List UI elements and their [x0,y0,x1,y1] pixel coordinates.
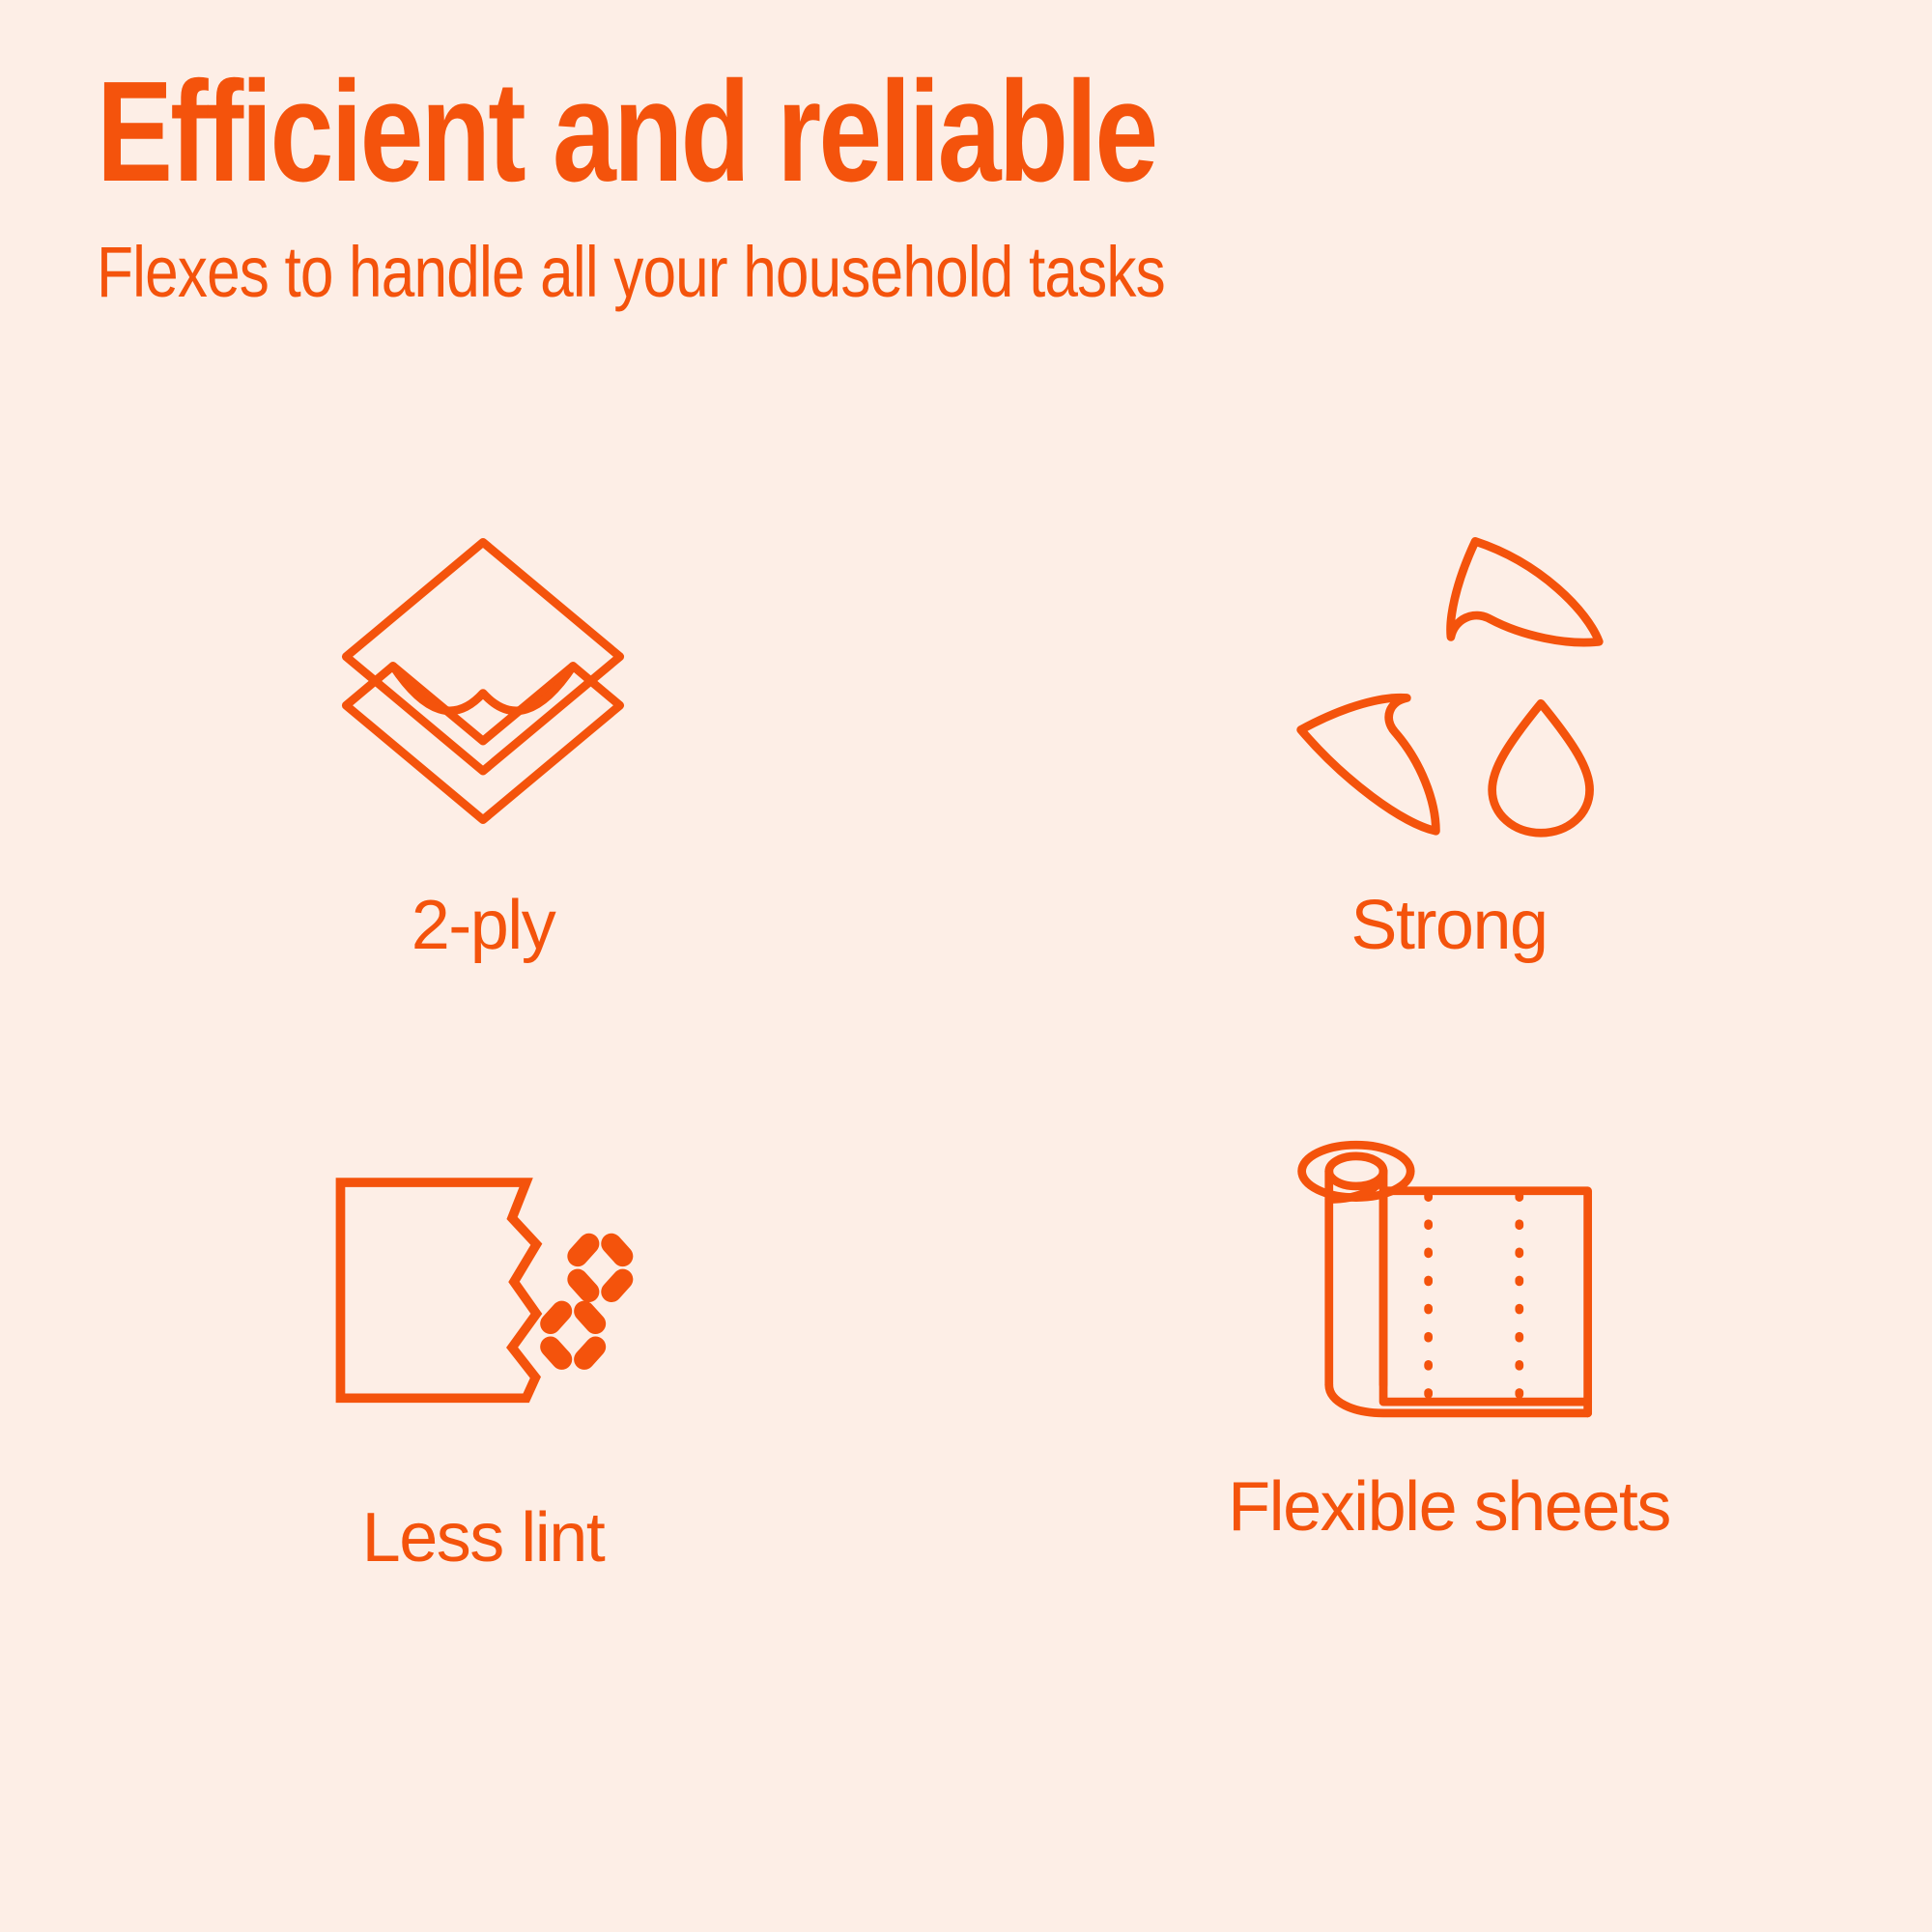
feature-item-two-ply: 2-ply [0,522,966,937]
feature-label-strong: Strong [1350,891,1547,960]
lint-cluster-lower [536,1296,611,1374]
feature-item-strong: Strong [966,522,1932,937]
feature-item-flexible-sheets: Flexible sheets [966,1121,1932,1536]
page-title: Efficient and reliable [97,60,1488,206]
feature-label-two-ply: 2-ply [412,891,555,960]
lint-cluster-upper [563,1229,638,1306]
feature-item-less-lint: Less lint [0,1121,966,1536]
feature-grid: 2-ply Strong [0,522,1932,1536]
feature-label-flexible-sheets: Flexible sheets [1228,1472,1670,1542]
feature-label-less-lint: Less lint [362,1503,605,1573]
torn-sheet-lint-icon [324,1121,642,1439]
product-feature-graphic: Efficient and reliable Flexes to handle … [0,0,1932,1932]
paper-towel-roll-icon [1290,1121,1608,1439]
cloth-wave-droplet-icon [1290,522,1608,840]
header: Efficient and reliable Flexes to handle … [97,60,1835,310]
layers-icon [324,522,642,840]
page-subtitle: Flexes to handle all your household task… [97,206,1557,310]
